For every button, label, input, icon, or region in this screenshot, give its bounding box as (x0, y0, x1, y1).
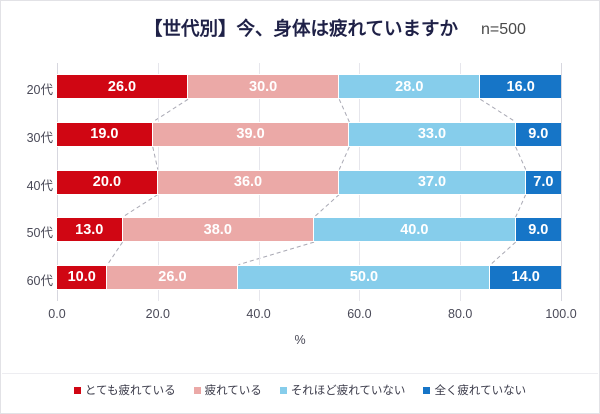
connector-line (490, 242, 515, 265)
legend-item-label: 疲れている (205, 382, 262, 398)
legend-item[interactable]: 全く疲れていない (423, 382, 526, 398)
bar-row: 19.039.033.09.0 (57, 122, 561, 147)
page-title: 【世代別】今、身体は疲れていますか (136, 15, 466, 41)
bar-segment: 26.0 (57, 74, 188, 99)
legend-item[interactable]: それほど疲れていない (280, 382, 406, 398)
connector-line (238, 242, 314, 265)
bar-row: 20.036.037.07.0 (57, 170, 561, 195)
connector-line (339, 147, 349, 170)
y-axis-label: 20代 (11, 79, 53, 98)
gridline (561, 63, 562, 301)
connector-line (339, 99, 349, 122)
connector-line (107, 242, 122, 265)
x-axis-title: % (1, 333, 599, 347)
y-axis-label: 30代 (11, 127, 53, 146)
connector-line (123, 195, 158, 218)
legend-swatch-icon (194, 387, 201, 394)
legend-swatch-icon (423, 387, 430, 394)
connector-line (480, 99, 515, 122)
x-axis-tick-label: 40.0 (229, 307, 289, 321)
bar-segment: 50.0 (238, 265, 490, 290)
chart-legend: とても疲れている疲れているそれほど疲れていない全く疲れていない (1, 382, 599, 398)
bar-segment: 19.0 (57, 122, 153, 147)
chart-container: 【世代別】今、身体は疲れていますか n=500 26.030.028.016.0… (0, 0, 600, 414)
chart-header: 【世代別】今、身体は疲れていますか n=500 (1, 15, 599, 55)
connector-line (516, 147, 526, 170)
bar-row: 26.030.028.016.0 (57, 74, 561, 99)
bar-row: 10.026.050.014.0 (57, 265, 561, 290)
bar-segment: 36.0 (158, 170, 339, 195)
x-axis-tick-label: 20.0 (128, 307, 188, 321)
bar-segment: 26.0 (107, 265, 238, 290)
x-axis-tick-label: 80.0 (430, 307, 490, 321)
plot-area: 26.030.028.016.019.039.033.09.020.036.03… (57, 63, 561, 301)
connector-line (516, 195, 526, 218)
bar-segment: 16.0 (480, 74, 561, 99)
y-axis-label: 60代 (11, 270, 53, 289)
bar-segment: 33.0 (349, 122, 515, 147)
bar-segment: 10.0 (57, 265, 107, 290)
y-axis-label: 50代 (11, 222, 53, 241)
bar-segment: 40.0 (314, 217, 516, 242)
bar-segment: 28.0 (339, 74, 480, 99)
x-axis-tick-label: 100.0 (531, 307, 591, 321)
bar-row: 13.038.040.09.0 (57, 217, 561, 242)
bar-segment: 38.0 (123, 217, 315, 242)
bar-segment: 20.0 (57, 170, 158, 195)
legend-divider (2, 373, 598, 374)
sample-size-annotation: n=500 (481, 21, 526, 39)
legend-item[interactable]: 疲れている (194, 382, 262, 398)
connector-line (314, 195, 339, 218)
legend-item[interactable]: とても疲れている (74, 382, 176, 398)
legend-item-label: 全く疲れていない (434, 382, 526, 398)
x-axis-tick-label: 0.0 (27, 307, 87, 321)
legend-item-label: とても疲れている (85, 382, 176, 398)
bar-segment: 9.0 (516, 217, 561, 242)
bar-segment: 39.0 (153, 122, 350, 147)
bar-segment: 30.0 (188, 74, 339, 99)
legend-swatch-icon (74, 387, 81, 394)
legend-item-label: それほど疲れていない (291, 382, 406, 398)
bar-segment: 9.0 (516, 122, 561, 147)
y-axis-label: 40代 (11, 175, 53, 194)
bar-segment: 13.0 (57, 217, 123, 242)
x-axis-tick-label: 60.0 (329, 307, 389, 321)
bar-segment: 37.0 (339, 170, 525, 195)
bar-segment: 7.0 (526, 170, 561, 195)
legend-swatch-icon (280, 387, 287, 394)
bar-segment: 14.0 (490, 265, 561, 290)
